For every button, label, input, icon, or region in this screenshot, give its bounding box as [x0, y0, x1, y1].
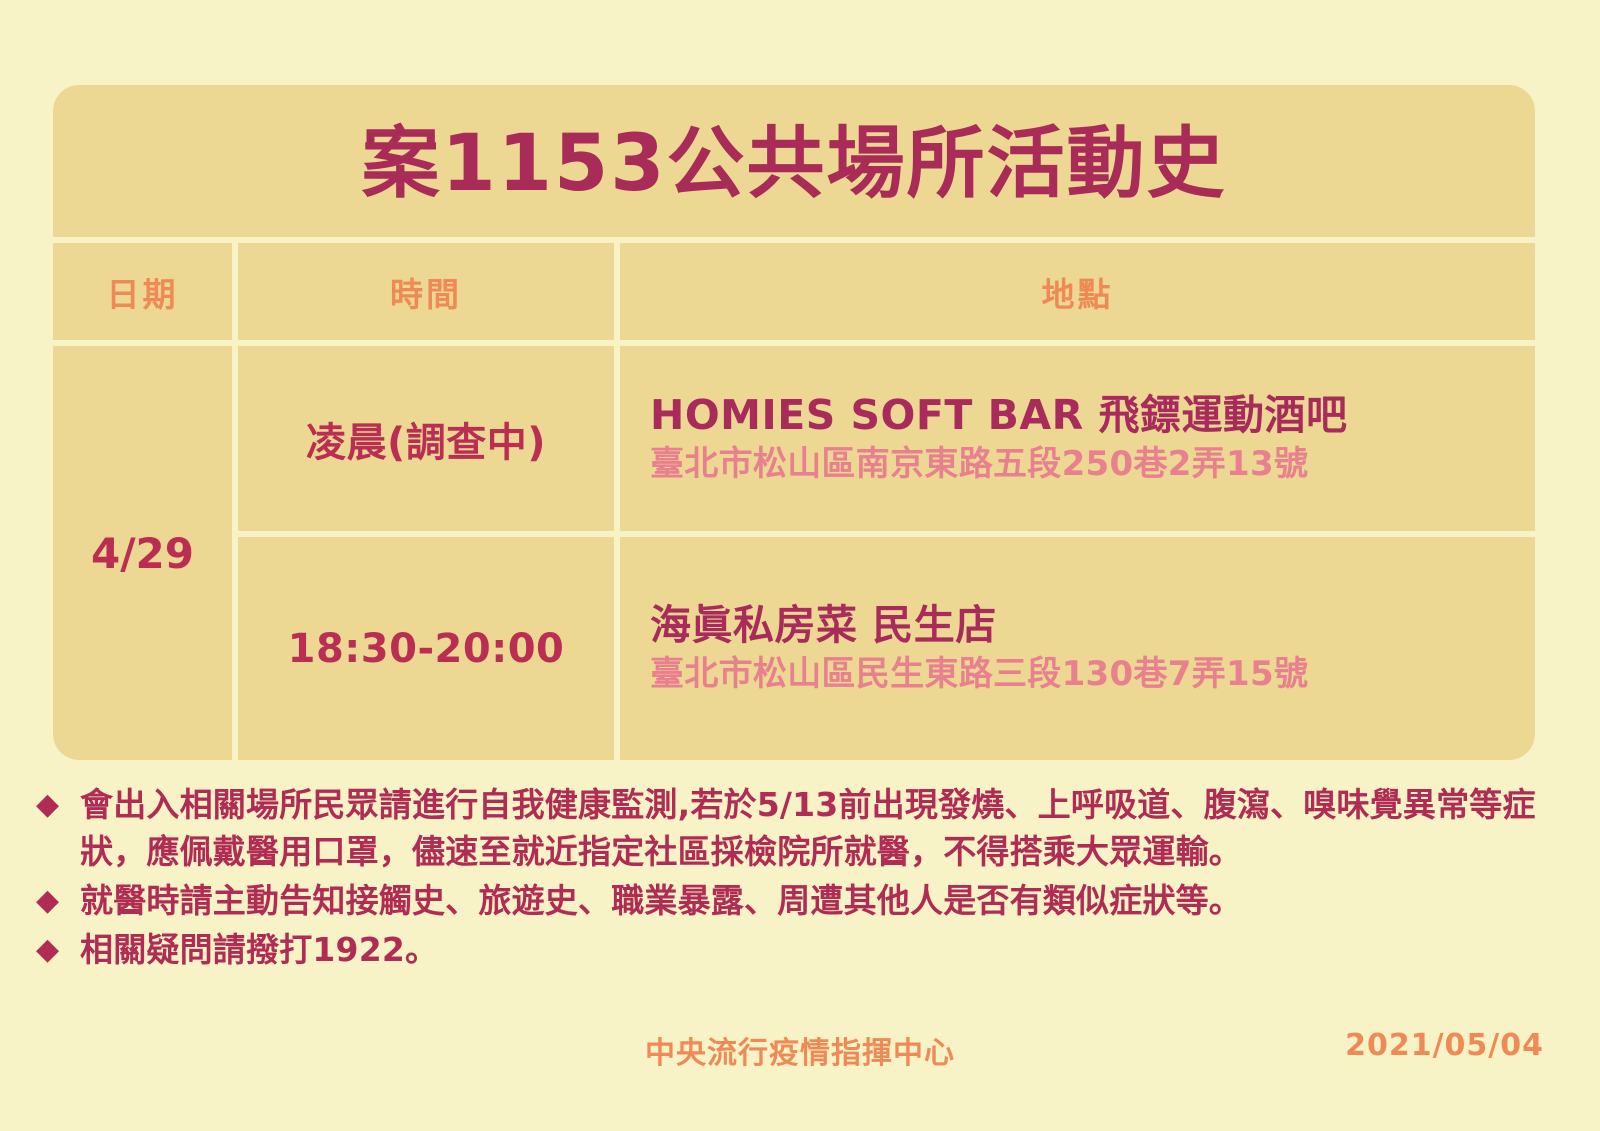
poster-title-bar: 案1153公共場所活動史	[53, 85, 1535, 243]
poster-footer: 中央流行疫情指揮中心 2021/05/04	[0, 1028, 1600, 1080]
cell-place-row-1: HOMIES SOFT BAR 飛鏢運動酒吧 臺北市松山區南京東路五段250巷2…	[620, 346, 1535, 531]
table-header-row: 日期 時間 地點	[53, 243, 1535, 340]
cell-place-row-2: 海眞私房菜 民生店 臺北市松山區民生東路三段130巷7弄15號	[620, 537, 1535, 760]
venue-name-row-1: HOMIES SOFT BAR 飛鏢運動酒吧	[650, 391, 1535, 439]
venue-address-row-1: 臺北市松山區南京東路五段250巷2弄13號	[650, 443, 1535, 486]
diamond-bullet-icon: ◆	[36, 927, 80, 972]
column-header-time: 時間	[238, 243, 614, 340]
diamond-bullet-icon: ◆	[36, 782, 80, 827]
note-text: 就醫時請主動告知接觸史、旅遊史、職業暴露、周遭其他人是否有類似症狀等。	[80, 878, 1566, 925]
venue-name-row-2: 海眞私房菜 民生店	[650, 601, 1535, 649]
column-header-place: 地點	[620, 243, 1535, 340]
note-text: 相關疑問請撥打1922。	[80, 927, 1566, 974]
cell-date-group: 4/29	[53, 346, 232, 760]
diamond-bullet-icon: ◆	[36, 878, 80, 923]
note-item: ◆ 會出入相關場所民眾請進行自我健康監測,若於5/13前出現發燒、上呼吸道、腹瀉…	[36, 782, 1566, 876]
column-header-date: 日期	[53, 243, 232, 340]
note-text: 會出入相關場所民眾請進行自我健康監測,若於5/13前出現發燒、上呼吸道、腹瀉、嗅…	[80, 782, 1566, 876]
footer-date: 2021/05/04	[1345, 1028, 1544, 1063]
page-title: 案1153公共場所活動史	[361, 125, 1226, 203]
cell-time-row-2: 18:30-20:00	[238, 537, 614, 760]
venue-address-row-2: 臺北市松山區民生東路三段130巷7弄15號	[650, 653, 1535, 696]
activity-table: 日期 時間 地點 4/29 凌晨(調查中) HOMIES SOFT BAR 飛鏢…	[53, 243, 1535, 760]
note-item: ◆ 相關疑問請撥打1922。	[36, 927, 1566, 974]
cell-time-row-1: 凌晨(調查中)	[238, 346, 614, 531]
notes-list: ◆ 會出入相關場所民眾請進行自我健康監測,若於5/13前出現發燒、上呼吸道、腹瀉…	[36, 782, 1566, 975]
activity-history-poster: 案1153公共場所活動史 日期 時間 地點 4/29 凌晨(調查中) HOMIE…	[53, 85, 1535, 760]
note-item: ◆ 就醫時請主動告知接觸史、旅遊史、職業暴露、周遭其他人是否有類似症狀等。	[36, 878, 1566, 925]
